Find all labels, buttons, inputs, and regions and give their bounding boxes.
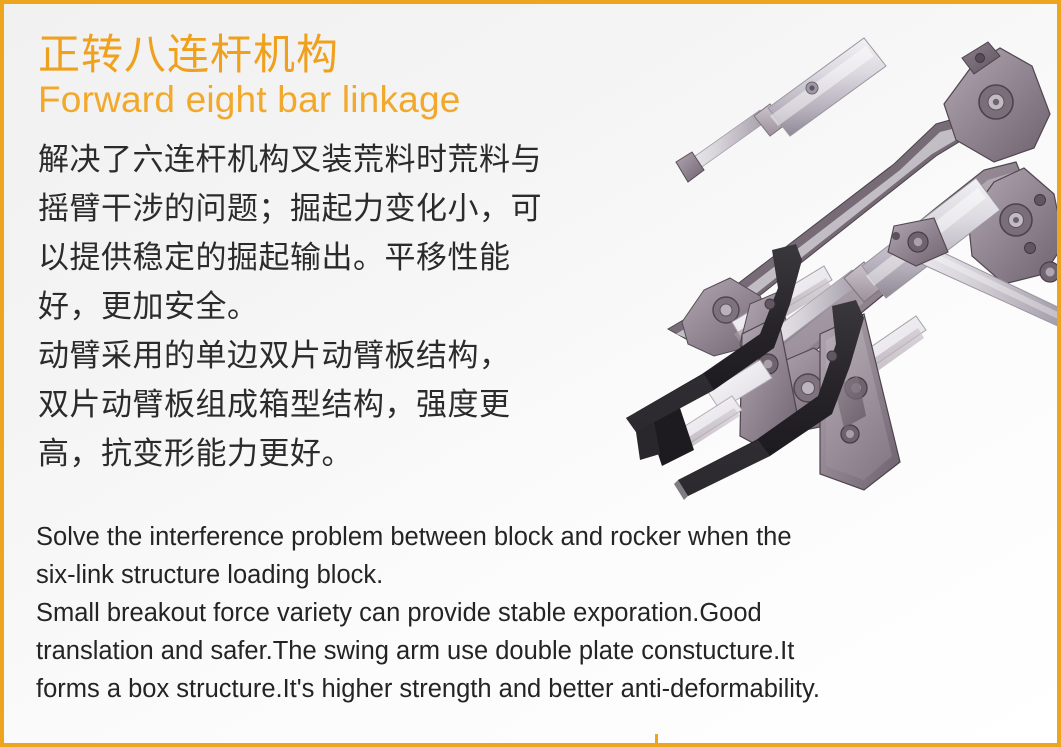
body-cn-line: 好，更加安全。 xyxy=(38,282,603,331)
upper-right-rocker-arm xyxy=(944,42,1050,162)
body-cn-line: 高，抗变形能力更好。 xyxy=(38,429,603,478)
body-en-line: forms a box structure.It's higher streng… xyxy=(36,670,1026,708)
body-cn-line: 以提供稳定的掘起输出。平移性能 xyxy=(38,233,603,282)
body-cn-line: 解决了六连杆机构叉装荒料时荒料与 xyxy=(38,135,603,184)
body-text-en: Solve the interference problem between b… xyxy=(36,518,1026,708)
body-en-line: Solve the interference problem between b… xyxy=(36,518,1026,556)
body-text-cn: 解决了六连杆机构叉装荒料时荒料与 摇臂干涉的问题；掘起力变化小，可 以提供稳定的… xyxy=(38,135,603,478)
body-en-line: six-link structure loading block. xyxy=(36,556,1026,594)
body-en-line: Small breakout force variety can provide… xyxy=(36,594,1026,632)
body-cn-line: 动臂采用的单边双片动臂板结构， xyxy=(38,331,603,380)
body-en-line: translation and safer.The swing arm use … xyxy=(36,632,1026,670)
body-cn-line: 双片动臂板组成箱型结构，强度更 xyxy=(38,380,603,429)
page-title-cn: 正转八连杆机构 xyxy=(38,32,638,77)
rear-hydraulic-cylinder xyxy=(676,38,886,182)
bottom-border-tick xyxy=(655,734,658,747)
slide-canvas: 正转八连杆机构 Forward eight bar linkage 解决了六连杆… xyxy=(0,0,1061,747)
body-cn-line: 摇臂干涉的问题；掘起力变化小，可 xyxy=(38,184,603,233)
page-title-en: Forward eight bar linkage xyxy=(38,79,638,120)
eight-bar-linkage-cad-render xyxy=(564,4,1061,504)
text-column: 正转八连杆机构 Forward eight bar linkage 解决了六连杆… xyxy=(38,32,638,478)
